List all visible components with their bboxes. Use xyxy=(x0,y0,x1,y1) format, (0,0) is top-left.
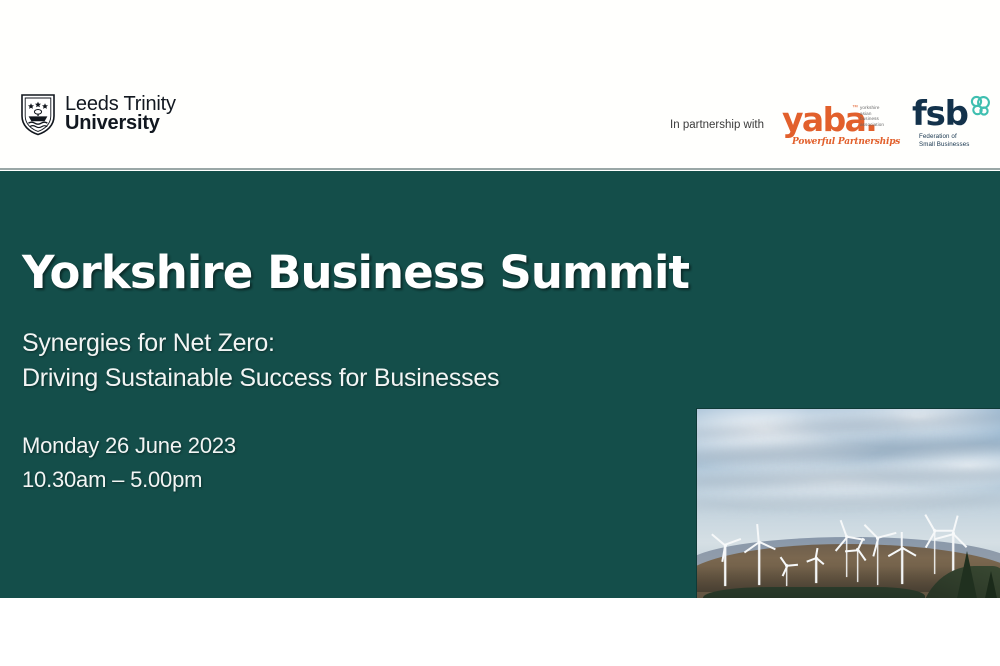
partnership-label: In partnership with xyxy=(670,119,764,133)
shield-crest-icon xyxy=(20,92,56,136)
fsb-descriptor-line-1: Federation of xyxy=(919,133,969,141)
yaba-tagline: Powerful Partnerships xyxy=(792,137,900,147)
turbine-mast xyxy=(857,548,859,582)
yaba-descriptor-line-4: association xyxy=(860,122,884,128)
wind-turbine xyxy=(845,535,849,577)
turbine-hub xyxy=(901,547,904,550)
interlocking-circles-icon xyxy=(969,95,991,117)
turbine-hub xyxy=(876,537,879,540)
turbine-mast xyxy=(815,557,817,583)
poster-header: Leeds Trinity University In partnership … xyxy=(0,0,1000,170)
wind-turbine xyxy=(785,564,789,586)
wind-turbine xyxy=(876,537,880,585)
event-date: Monday 26 June 2023 xyxy=(22,429,672,462)
wind-turbine xyxy=(933,529,937,574)
university-name-line2: University xyxy=(65,114,176,133)
turbine-mast xyxy=(901,547,903,584)
fsb-descriptor: Federation of Small Businesses xyxy=(919,133,969,150)
page-title: Yorkshire Business Summit xyxy=(22,249,672,296)
event-subtitle-line1: Synergies for Net Zero: xyxy=(22,326,672,361)
turbine-hub xyxy=(724,544,727,547)
event-details: Yorkshire Business Summit Synergies for … xyxy=(22,249,672,496)
turbine-mast xyxy=(758,541,760,585)
wind-turbine xyxy=(723,544,727,586)
event-poster: Leeds Trinity University In partnership … xyxy=(0,0,1000,666)
turbine-hub xyxy=(933,529,936,532)
event-datetime: Monday 26 June 2023 10.30am – 5.00pm xyxy=(22,429,672,496)
fsb-descriptor-line-2: Small Businesses xyxy=(919,141,969,149)
wind-turbine xyxy=(900,547,904,584)
wind-turbine xyxy=(757,541,761,585)
event-time: 10.30am – 5.00pm xyxy=(22,463,672,496)
wind-turbine xyxy=(814,557,818,583)
fsb-wordmark: fsb xyxy=(912,97,968,131)
turbine-hub xyxy=(785,564,788,567)
turbine-hub xyxy=(815,557,818,560)
partner-logos: In partnership with yaba. ™ yorkshire as… xyxy=(670,96,994,156)
fsb-logo: fsb Federation of Small Businesses xyxy=(912,97,994,155)
turbine-mast xyxy=(846,535,848,577)
event-subtitle: Synergies for Net Zero: Driving Sustaina… xyxy=(22,326,672,395)
yaba-logo: yaba. ™ yorkshire asian business associa… xyxy=(782,99,894,153)
yaba-descriptor: yorkshire asian business association xyxy=(860,105,884,128)
leeds-trinity-university-logo: Leeds Trinity University xyxy=(20,92,176,136)
turbine-hub xyxy=(758,541,761,544)
university-wordmark: Leeds Trinity University xyxy=(65,95,176,134)
yaba-trademark-icon: ™ xyxy=(852,105,858,111)
footer-whitespace xyxy=(0,598,1000,666)
turbine-hub xyxy=(952,532,955,535)
turbine-mast xyxy=(934,529,936,574)
event-subtitle-line2: Driving Sustainable Success for Business… xyxy=(22,361,672,396)
main-banner-panel: Yorkshire Business Summit Synergies for … xyxy=(0,171,1000,598)
wind-turbine xyxy=(856,548,860,582)
